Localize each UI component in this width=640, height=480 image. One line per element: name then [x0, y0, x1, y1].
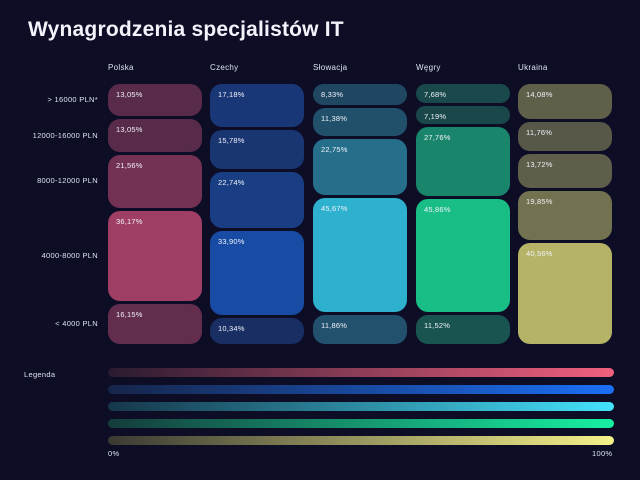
heatmap-cell-value: 19,85% [526, 197, 553, 206]
row-label-1: 12000-16000 PLN [33, 131, 98, 140]
heatmap-cell[interactable]: 15,78% [210, 130, 304, 169]
legend-bar-polska-scale [108, 368, 614, 377]
legend-bar-wegry-scale [108, 419, 614, 428]
heatmap-cell[interactable]: 16,15% [108, 304, 202, 344]
heatmap-cell[interactable]: 27,76% [416, 127, 510, 196]
heatmap-cell[interactable]: 11,38% [313, 108, 407, 136]
column-header-słowacja: Słowacja [313, 63, 347, 72]
heatmap-cell[interactable]: 22,75% [313, 139, 407, 195]
heatmap-cell-value: 14,08% [526, 90, 553, 99]
heatmap-cell-value: 33,90% [218, 237, 245, 246]
heatmap-cell-value: 11,86% [321, 321, 347, 330]
legend-bar-ukraina-scale [108, 436, 614, 445]
heatmap-cell[interactable]: 19,85% [518, 191, 612, 240]
heatmap-cell-value: 45,67% [321, 204, 348, 213]
heatmap-cell-value: 45,86% [424, 205, 451, 214]
heatmap-cell[interactable]: 45,67% [313, 198, 407, 311]
heatmap-cell[interactable]: 10,34% [210, 318, 304, 344]
legend-title: Legenda [24, 370, 55, 379]
row-label-2: 8000-12000 PLN [37, 176, 98, 185]
column-header-czechy: Czechy [210, 63, 238, 72]
page-title: Wynagrodzenia specjalistów IT [28, 18, 344, 42]
heatmap-cell[interactable]: 33,90% [210, 231, 304, 315]
heatmap-cell[interactable]: 45,86% [416, 199, 510, 313]
heatmap-cell[interactable]: 13,72% [518, 154, 612, 188]
heatmap-cell-value: 11,38% [321, 114, 347, 123]
heatmap-cell[interactable]: 7,19% [416, 106, 510, 124]
heatmap-cell[interactable]: 14,08% [518, 84, 612, 119]
heatmap-cell-value: 21,56% [116, 161, 143, 170]
heatmap-cell[interactable]: 36,17% [108, 211, 202, 301]
heatmap-cell[interactable]: 22,74% [210, 172, 304, 228]
heatmap-cell-value: 27,76% [424, 133, 451, 142]
row-label-3: 4000-8000 PLN [42, 251, 98, 260]
column-header-polska: Polska [108, 63, 134, 72]
heatmap-cell[interactable]: 8,33% [313, 84, 407, 105]
heatmap-cell-value: 13,72% [526, 160, 553, 169]
heatmap-cell-value: 36,17% [116, 217, 143, 226]
heatmap-cell-value: 13,05% [116, 125, 143, 134]
legend-axis-min: 0% [108, 449, 119, 458]
heatmap-cell-value: 40,56% [526, 249, 553, 258]
heatmap-cell[interactable]: 13,05% [108, 84, 202, 116]
heatmap-cell[interactable]: 11,86% [313, 315, 407, 344]
heatmap-cell-value: 11,52% [424, 321, 450, 330]
heatmap-cell[interactable]: 17,18% [210, 84, 304, 127]
heatmap-cell-value: 17,18% [218, 90, 245, 99]
legend-bar-slowacja-scale [108, 402, 614, 411]
heatmap-cell[interactable]: 7,68% [416, 84, 510, 103]
column-header-węgry: Węgry [416, 63, 441, 72]
heatmap-cell[interactable]: 21,56% [108, 155, 202, 208]
heatmap-cell[interactable]: 11,76% [518, 122, 612, 151]
heatmap-cell-value: 7,19% [424, 112, 446, 121]
heatmap-cell-value: 7,68% [424, 90, 446, 99]
legend-axis-max: 100% [592, 449, 612, 458]
heatmap-cell[interactable]: 13,05% [108, 119, 202, 151]
heatmap-cell-value: 11,76% [526, 128, 552, 137]
heatmap-cell-value: 13,05% [116, 90, 143, 99]
infographic-canvas: Wynagrodzenia specjalistów IT PolskaCzec… [0, 0, 640, 480]
heatmap-cell-value: 22,75% [321, 145, 348, 154]
heatmap-cell[interactable]: 40,56% [518, 243, 612, 344]
row-label-4: < 4000 PLN [55, 319, 98, 328]
row-label-0: > 16000 PLN* [47, 95, 98, 104]
legend-bar-czechy-scale [108, 385, 614, 394]
heatmap-cell-value: 22,74% [218, 178, 245, 187]
heatmap-cell-value: 10,34% [218, 324, 245, 333]
heatmap-cell-value: 15,78% [218, 136, 245, 145]
heatmap-cell-value: 8,33% [321, 90, 343, 99]
heatmap-cell[interactable]: 11,52% [416, 315, 510, 344]
heatmap-cell-value: 16,15% [116, 310, 143, 319]
column-header-ukraina: Ukraina [518, 63, 548, 72]
